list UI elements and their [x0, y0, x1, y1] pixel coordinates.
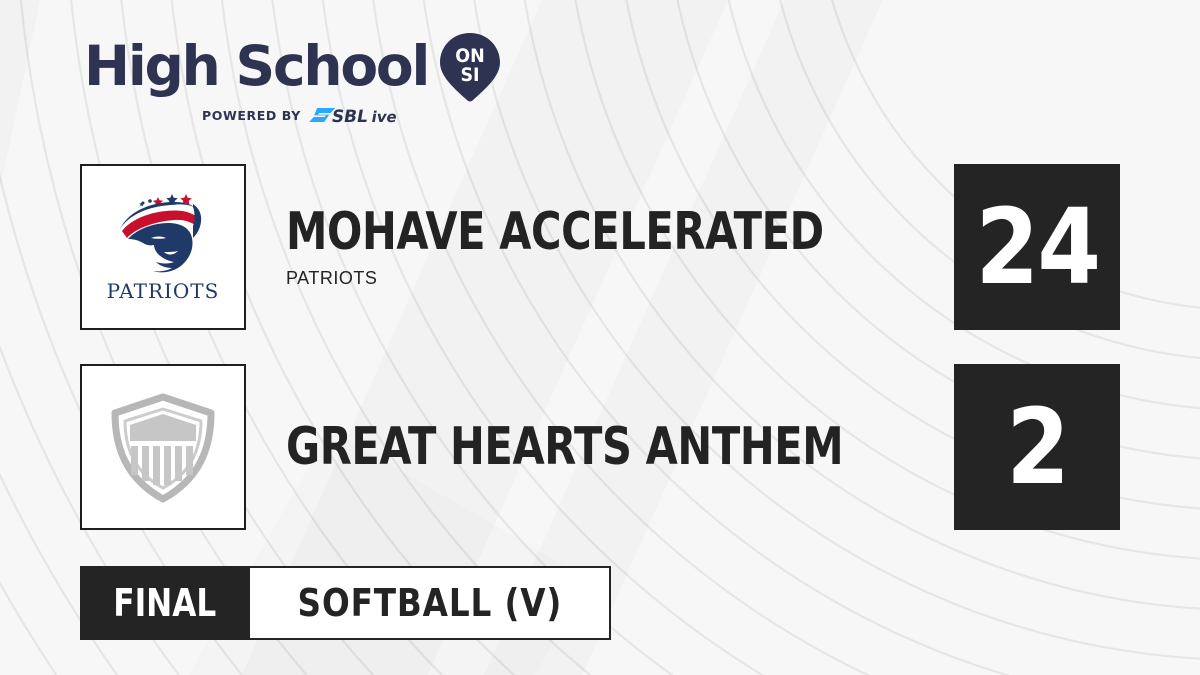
on-si-pin-icon: ON SI: [438, 32, 502, 102]
game-state-label: FINAL: [113, 583, 216, 623]
patriots-minuteman-logo-icon: PATRIOTS: [98, 182, 228, 312]
svg-text:SBL: SBL: [330, 107, 370, 126]
svg-text:ive: ive: [370, 108, 398, 126]
sport-label-box: SOFTBALL (V): [250, 566, 612, 640]
brand-header: High School ON SI POWERED BY SBL ive: [84, 34, 514, 134]
powered-by-label: POWERED BY: [202, 108, 301, 123]
team-logo-tile: PATRIOTS: [80, 164, 246, 330]
game-state-badge: FINAL: [80, 566, 250, 640]
team-score-box: 24: [954, 164, 1120, 330]
status-bar: FINAL SOFTBALL (V): [80, 566, 611, 640]
team-name: GREAT HEARTS ANTHEM: [286, 420, 843, 474]
team-row: PATRIOTS MOHAVE ACCELERATED PATRIOTS 24: [80, 164, 1120, 330]
team-score: 2: [1006, 395, 1068, 499]
logo-row: High School ON SI: [84, 34, 514, 98]
scoreboard-graphic: High School ON SI POWERED BY SBL ive: [0, 0, 1200, 675]
high-school-wordmark: High School: [84, 37, 428, 95]
sblive-logo: SBL ive: [308, 104, 418, 126]
team-info: MOHAVE ACCELERATED PATRIOTS: [286, 164, 958, 330]
team-info: GREAT HEARTS ANTHEM: [286, 364, 983, 530]
powered-by-row: POWERED BY SBL ive: [84, 104, 514, 126]
team-row: GREAT HEARTS ANTHEM 2: [80, 364, 1120, 530]
patriots-logo-wordmark: PATRIOTS: [107, 279, 220, 303]
team-score: 24: [975, 195, 1099, 299]
team-logo-tile: [80, 364, 246, 530]
team-mascot: PATRIOTS: [286, 267, 958, 289]
placeholder-shield-icon: [103, 387, 223, 507]
team-name: MOHAVE ACCELERATED: [286, 205, 824, 259]
svg-text:SI: SI: [461, 64, 480, 86]
team-score-box: 2: [954, 364, 1120, 530]
sport-label: SOFTBALL (V): [297, 583, 562, 623]
